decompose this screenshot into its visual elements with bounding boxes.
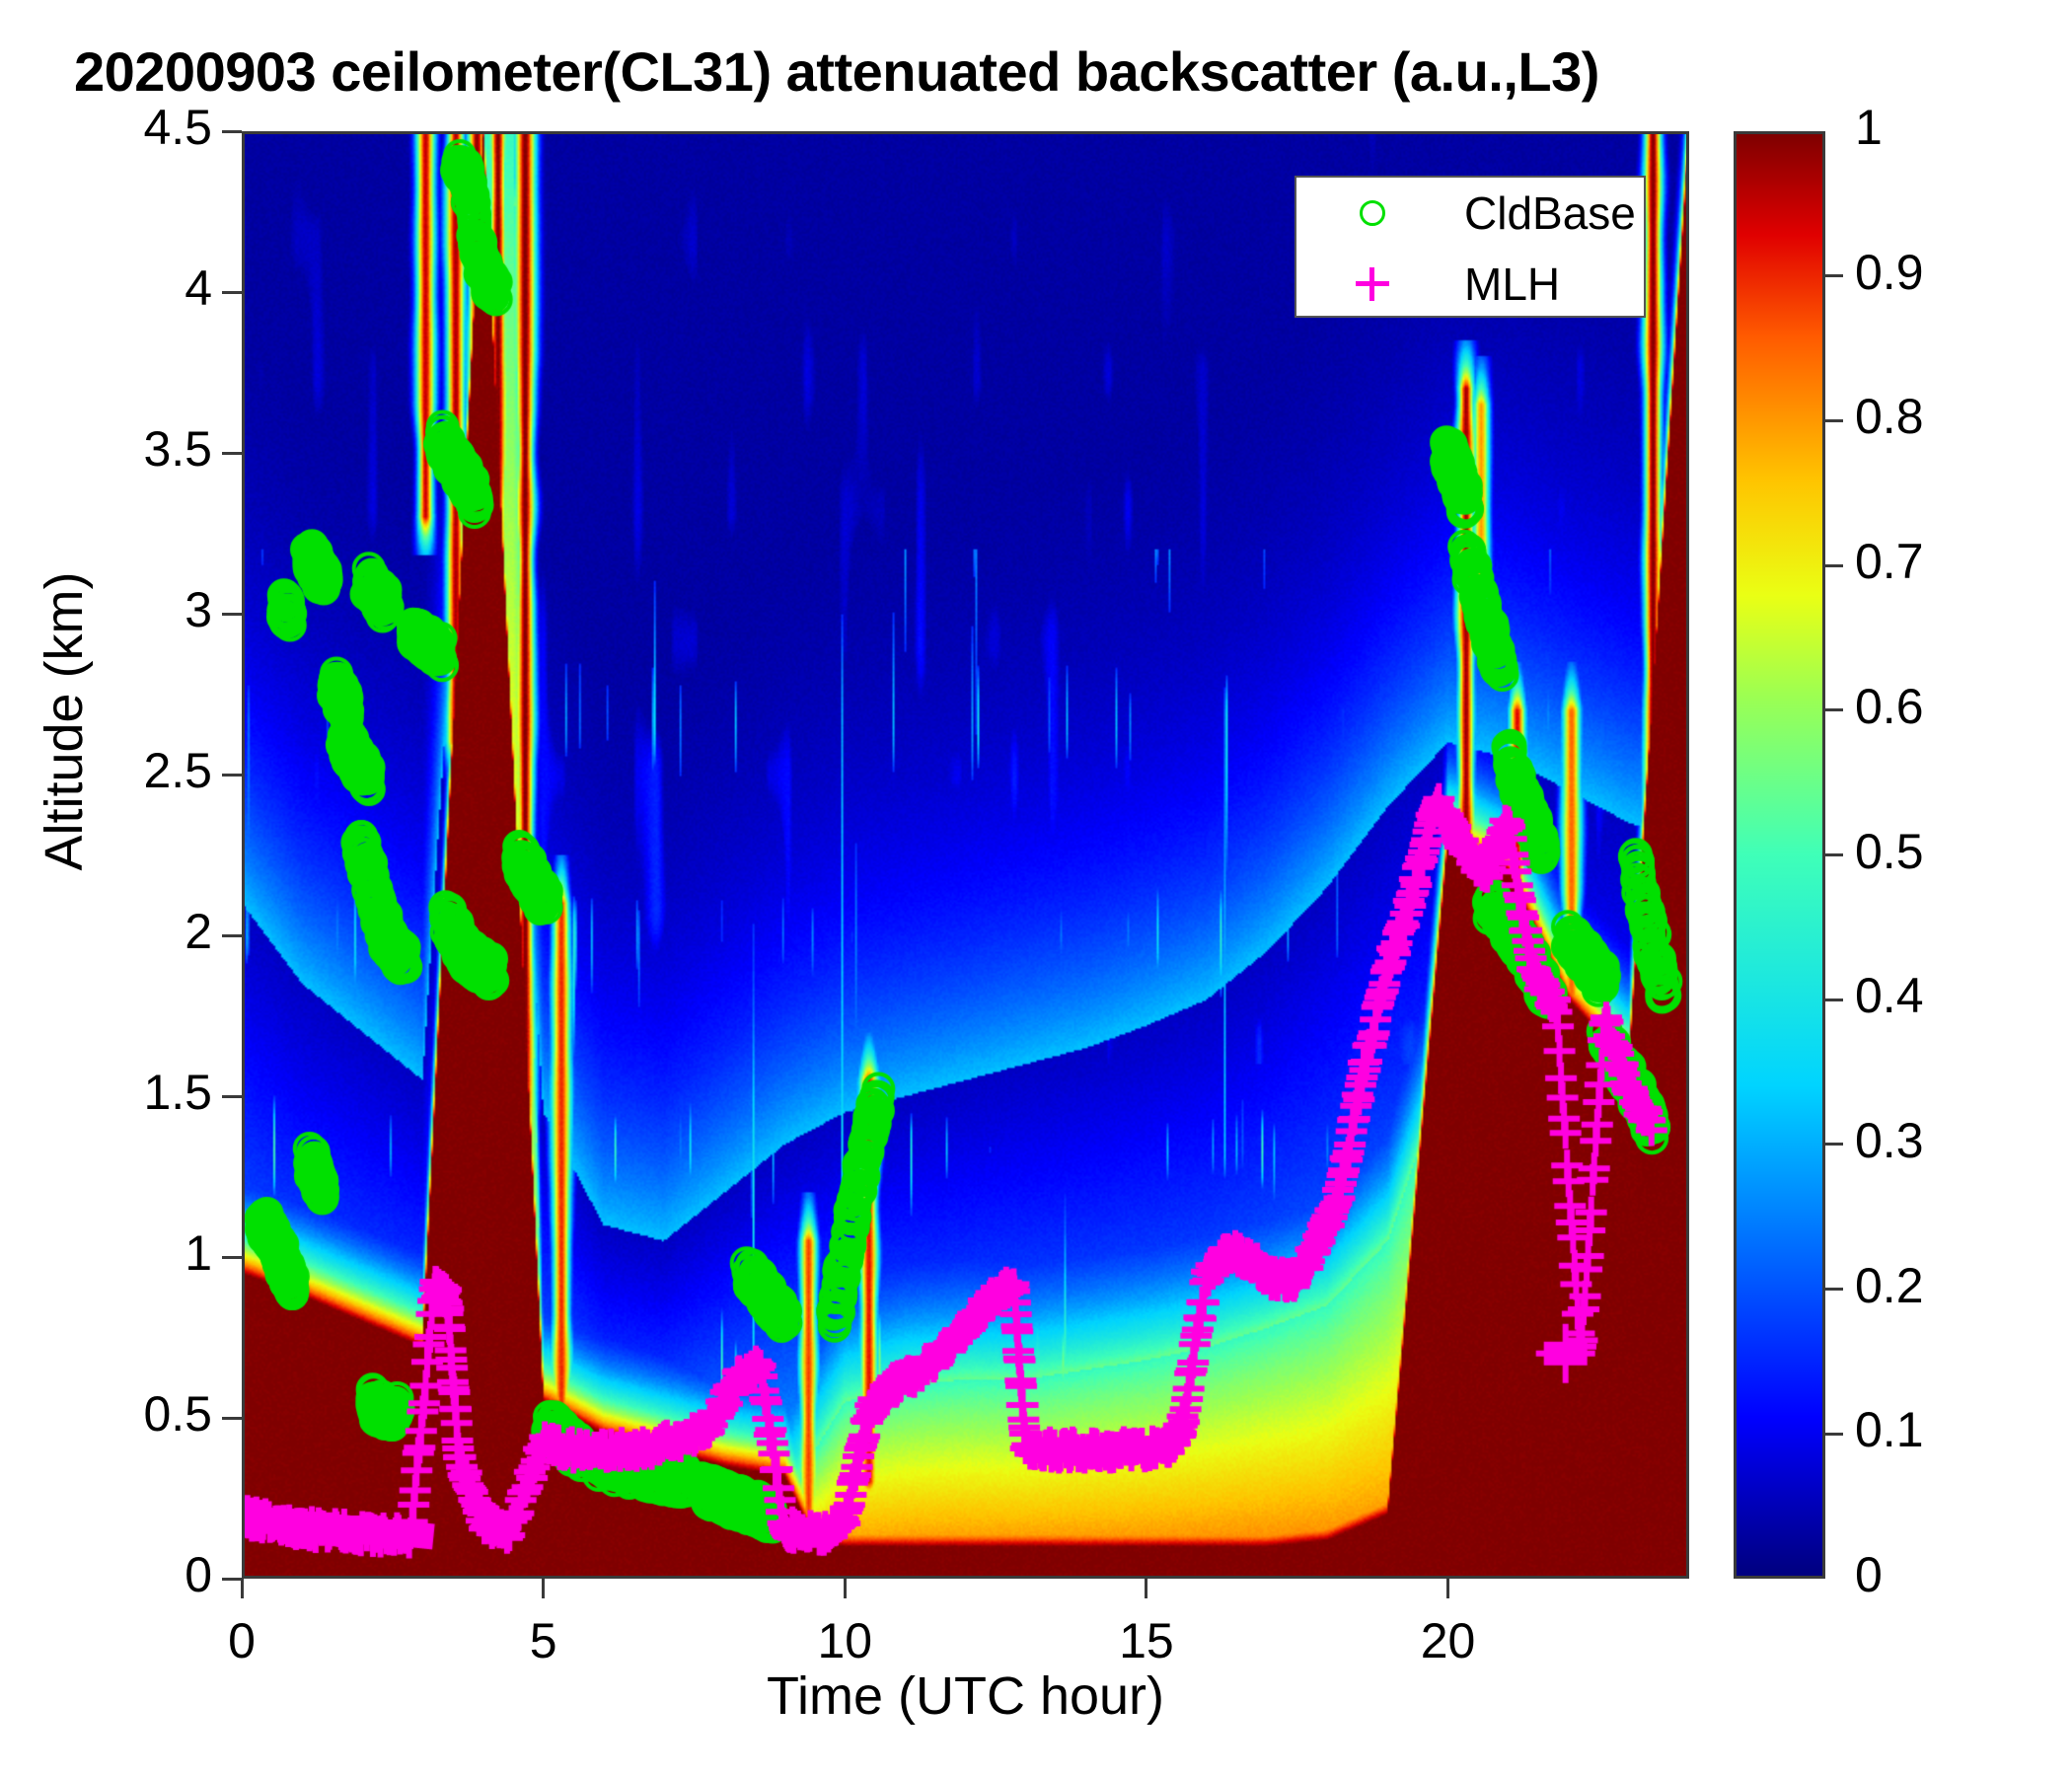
y-tick-label: 1 — [15, 1224, 212, 1282]
legend-item-mlh[interactable]: MLH — [1296, 249, 1644, 320]
x-tick-label: 15 — [1048, 1612, 1245, 1669]
x-tick-mark — [844, 1579, 847, 1598]
x-tick-mark — [1145, 1579, 1147, 1598]
colorbar-tick-label: 0.1 — [1855, 1401, 1924, 1458]
circle-marker-icon — [1356, 196, 1389, 230]
x-tick-mark — [1446, 1579, 1449, 1598]
colorbar-tick-label: 0.4 — [1855, 967, 1924, 1024]
x-tick-label: 20 — [1350, 1612, 1547, 1669]
y-tick-mark — [222, 1095, 242, 1098]
y-tick-mark — [222, 291, 242, 294]
colorbar-tick-mark — [1825, 1433, 1843, 1436]
y-tick-label: 1.5 — [15, 1064, 212, 1121]
colorbar-tick-label: 0.5 — [1855, 823, 1924, 880]
marker-overlay — [242, 131, 1689, 1579]
colorbar-tick-label: 0.8 — [1855, 388, 1924, 445]
colorbar-tick-label: 0.3 — [1855, 1112, 1924, 1169]
y-tick-label: 3.5 — [15, 420, 212, 478]
colorbar-tick-mark — [1825, 853, 1843, 856]
x-tick-mark — [241, 1579, 244, 1598]
colorbar-tick-mark — [1825, 274, 1843, 277]
legend-item-cldbase[interactable]: CldBase — [1296, 178, 1644, 249]
y-tick-mark — [222, 774, 242, 777]
y-tick-label: 4.5 — [15, 99, 212, 156]
y-tick-mark — [222, 613, 242, 616]
chart-title: 20200903 ceilometer(CL31) attenuated bac… — [74, 39, 1751, 104]
colorbar-tick-mark — [1825, 708, 1843, 711]
colorbar-tick-mark — [1825, 999, 1843, 1001]
x-tick-label: 0 — [143, 1612, 340, 1669]
legend: CldBase MLH — [1295, 176, 1646, 318]
colorbar-tick-label: 0.2 — [1855, 1257, 1924, 1314]
y-tick-label: 0.5 — [15, 1385, 212, 1443]
y-tick-label: 2.5 — [15, 742, 212, 799]
x-tick-label: 5 — [445, 1612, 642, 1669]
x-tick-label: 10 — [746, 1612, 943, 1669]
y-tick-label: 4 — [15, 259, 212, 317]
y-tick-mark — [222, 1256, 242, 1259]
legend-label-cldbase: CldBase — [1464, 186, 1636, 240]
colorbar-tick-mark — [1825, 564, 1843, 567]
x-tick-mark — [542, 1579, 545, 1598]
colorbar-tick-label: 0.7 — [1855, 533, 1924, 590]
backscatter-heatmap — [242, 131, 1689, 1579]
y-tick-mark — [222, 1417, 242, 1420]
y-tick-mark — [222, 934, 242, 937]
colorbar-tick-label: 0.6 — [1855, 678, 1924, 735]
colorbar — [1734, 131, 1825, 1579]
colorbar-tick-mark — [1825, 1288, 1843, 1291]
y-tick-label: 0 — [15, 1546, 212, 1603]
colorbar-gradient — [1737, 134, 1822, 1576]
colorbar-tick-mark — [1825, 1143, 1843, 1146]
y-tick-label: 3 — [15, 581, 212, 638]
y-tick-mark — [222, 130, 242, 133]
colorbar-tick-mark — [1825, 419, 1843, 422]
y-tick-mark — [222, 452, 242, 455]
x-axis-label: Time (UTC hour) — [242, 1665, 1689, 1727]
colorbar-tick-label: 0.9 — [1855, 244, 1924, 301]
plus-marker-icon — [1356, 267, 1389, 301]
y-tick-label: 2 — [15, 903, 212, 960]
colorbar-tick-label: 0 — [1855, 1546, 1883, 1603]
legend-label-mlh: MLH — [1464, 258, 1560, 311]
y-tick-mark — [222, 1578, 242, 1581]
colorbar-tick-label: 1 — [1855, 99, 1883, 156]
